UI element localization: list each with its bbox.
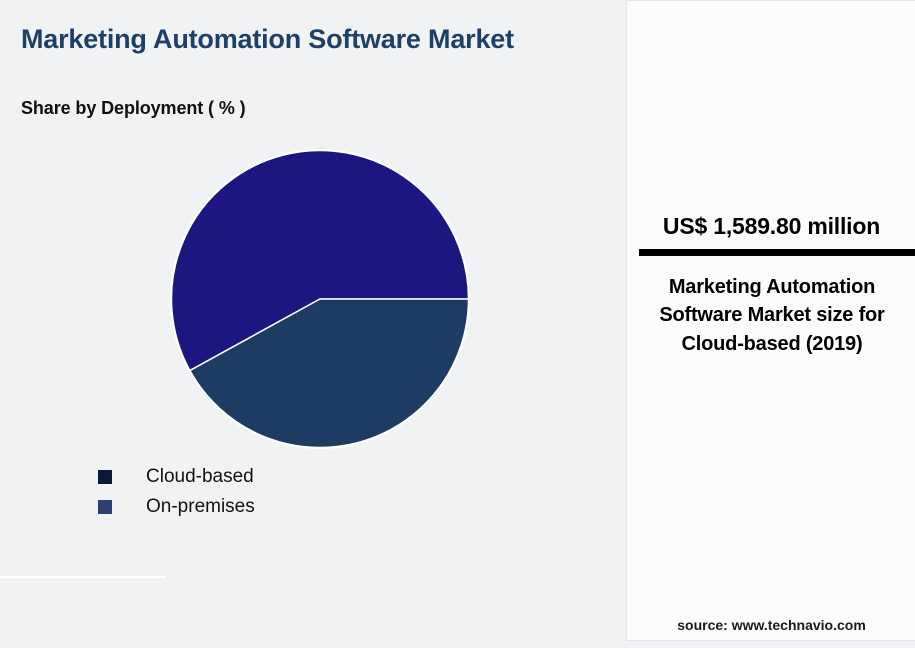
chart-subtitle: Share by Deployment ( % ) <box>21 98 246 119</box>
source-note: source: www.technavio.com <box>627 617 915 633</box>
chart-legend: Cloud-based On-premises <box>98 462 498 522</box>
pie-chart-svg <box>170 149 470 449</box>
legend-swatch-on-premises <box>98 500 112 514</box>
chart-left-panel: Marketing Automation Software Market Sha… <box>0 0 626 648</box>
kpi-caption: Marketing Automation Software Market siz… <box>641 273 903 358</box>
kpi-value: US$ 1,589.80 million <box>627 213 915 240</box>
page-title: Marketing Automation Software Market <box>21 24 561 55</box>
pie-chart <box>170 149 470 449</box>
kpi-panel: US$ 1,589.80 million Marketing Automatio… <box>626 0 915 641</box>
legend-item-on-premises[interactable]: On-premises <box>98 492 498 522</box>
kpi-underline-bar <box>639 249 915 256</box>
legend-swatch-cloud-based <box>98 470 112 484</box>
baseline-divider <box>0 576 166 578</box>
legend-label-on-premises: On-premises <box>146 496 255 518</box>
legend-item-cloud-based[interactable]: Cloud-based <box>98 462 498 492</box>
legend-label-cloud-based: Cloud-based <box>146 466 254 488</box>
chart-canvas: Marketing Automation Software Market Sha… <box>0 0 915 648</box>
